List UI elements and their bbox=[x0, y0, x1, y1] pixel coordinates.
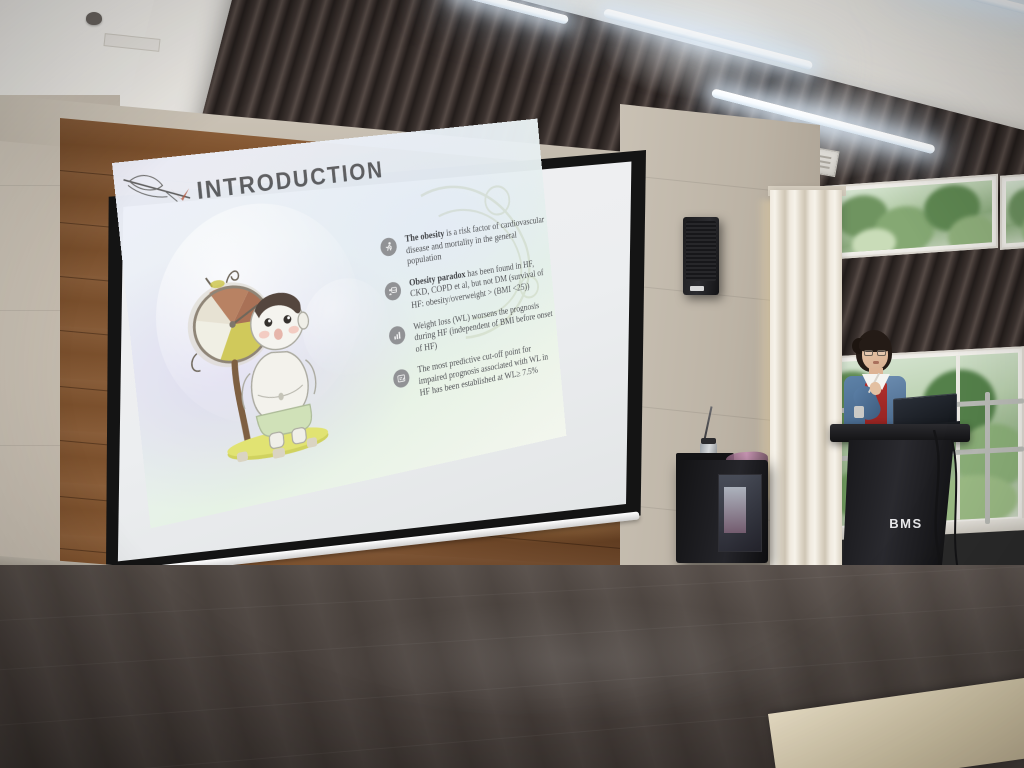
bar-chart-icon bbox=[388, 325, 406, 346]
smoke-detector-icon bbox=[86, 12, 102, 25]
obesity-scale-cartoon bbox=[172, 241, 350, 487]
conference-room-scene: INTRODUCTION bbox=[0, 0, 1024, 768]
window-glass bbox=[1006, 179, 1024, 244]
rack-interior bbox=[724, 487, 746, 533]
slide-title: INTRODUCTION bbox=[195, 157, 384, 206]
clerestory-window-left bbox=[822, 174, 998, 260]
badge bbox=[854, 406, 864, 418]
glasses-icon bbox=[864, 350, 886, 356]
branch-decoration-icon bbox=[119, 163, 206, 217]
running-person-icon bbox=[380, 237, 398, 257]
bullet-body: The most predictive cut-off point for im… bbox=[417, 345, 548, 398]
floor-reflection bbox=[320, 600, 840, 720]
window-glass bbox=[828, 180, 992, 253]
av-equipment-rack[interactable] bbox=[676, 460, 768, 563]
wall-speaker bbox=[683, 217, 719, 295]
window-railing-post bbox=[985, 392, 990, 524]
clipboard-form-icon bbox=[393, 368, 411, 389]
clerestory-window-right bbox=[1000, 172, 1024, 250]
thermos-cap bbox=[701, 438, 716, 444]
slide-bullet-list: The obesity is a risk factor of cardiova… bbox=[380, 215, 560, 414]
speaker-badge bbox=[690, 286, 704, 291]
rack-glass-door[interactable] bbox=[718, 474, 762, 552]
presentation-board-icon bbox=[384, 281, 402, 302]
speaker-grill-icon bbox=[686, 221, 716, 281]
mouth bbox=[873, 361, 879, 364]
